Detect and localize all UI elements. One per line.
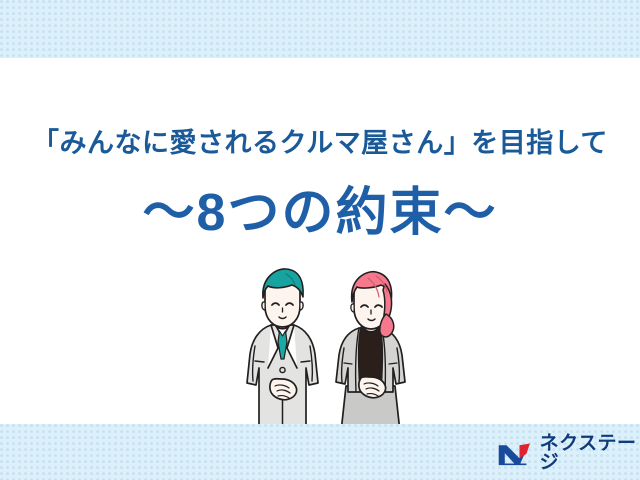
promo-slide: 「みんなに愛されるクルマ屋さん」を目指して ～8つの約束～ [0, 0, 640, 480]
male-staff-bowing [247, 269, 318, 425]
headline-line-2: ～8つの約束～ [0, 182, 640, 244]
logo-text: ネクステージ [540, 434, 640, 472]
headline-line-1: 「みんなに愛されるクルマ屋さん」を目指して [0, 126, 640, 160]
nextage-n-mark [497, 440, 532, 467]
female-staff-bowing [336, 272, 405, 432]
two-bowing-staff-illustration [228, 262, 424, 434]
nextage-logo: ネクステージ [497, 438, 640, 468]
top-dot-band [0, 0, 640, 58]
